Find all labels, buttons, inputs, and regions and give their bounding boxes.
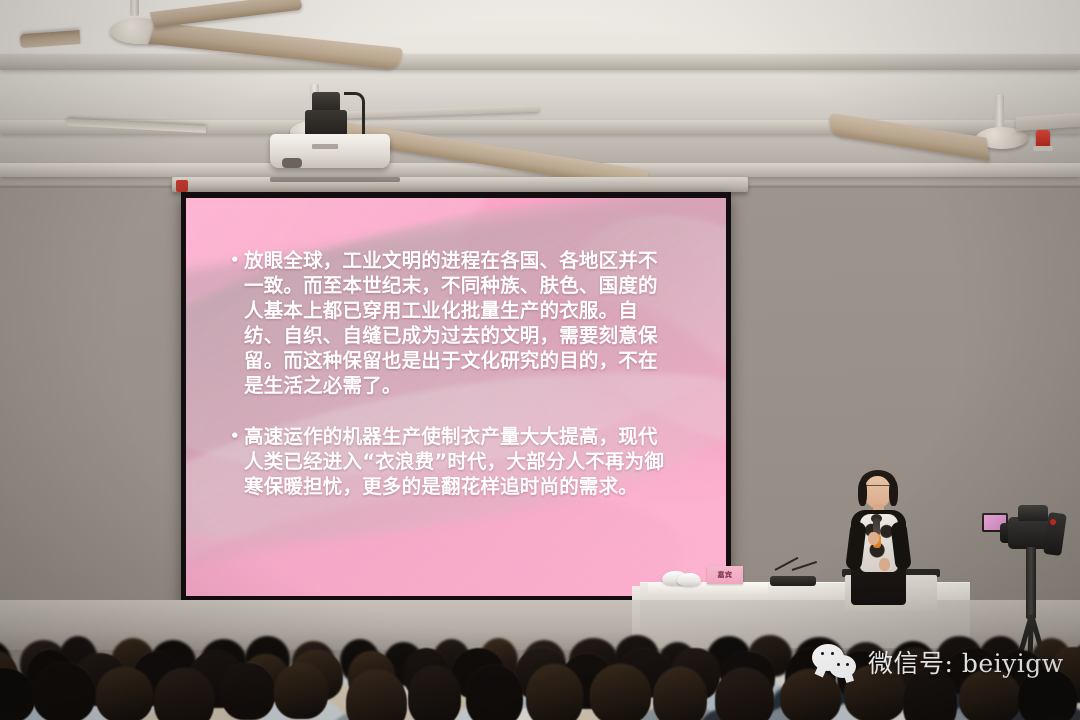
screen-roller-casing (172, 177, 748, 192)
fire-sprinkler-icon (1036, 130, 1050, 148)
speech-bubble-small (829, 655, 856, 678)
wechat-watermark: 微信号: beiyigw (812, 642, 1064, 682)
ceiling-projector (270, 134, 390, 168)
audience-head (715, 668, 774, 720)
audience-head (33, 663, 95, 720)
display-shoe (677, 573, 701, 586)
fan-rod (995, 95, 1004, 129)
slide-content: • 放眼全球，工业文明的进程在各国、各地区并不一致。而至本世纪末，不同种族、肤色… (186, 198, 726, 596)
speaker-glasses-icon (866, 485, 890, 491)
speaker-hair-side (858, 480, 867, 506)
camera-handle (1018, 505, 1048, 521)
fan-blade (150, 0, 304, 28)
audience-head (466, 665, 523, 720)
slide-bullet-paragraph: • 高速运作的机器生产使制衣产量大大提高，现代人类已经进入“衣浪费”时代，大部分… (230, 424, 672, 499)
speaker-person (838, 470, 918, 605)
slide-paragraph-text: 放眼全球，工业文明的进程在各国、各地区并不一致。而至本世纪末，不同种族、肤色、国… (244, 248, 672, 398)
wechat-logo-icon (812, 642, 860, 682)
projection-screen: • 放眼全球，工业文明的进程在各国、各地区并不一致。而至本世纪末，不同种族、肤色… (186, 198, 726, 596)
lecture-hall-photo: • 放眼全球，工业文明的进程在各国、各地区并不一致。而至本世纪末，不同种族、肤色… (0, 0, 1080, 720)
fan-rod (130, 0, 139, 16)
fan-blade (149, 22, 405, 70)
name-card-label: 嘉宾 (718, 570, 733, 580)
audience-head (221, 663, 274, 720)
projector-mount-upper (312, 92, 340, 112)
speaker-hand (868, 532, 879, 545)
bullet-point-icon: • (230, 424, 244, 449)
projection-screen-frame: • 放眼全球，工业文明的进程在各国、各地区并不一致。而至本世纪末，不同种族、肤色… (181, 192, 731, 602)
slide-bullet-paragraph: • 放眼全球，工业文明的进程在各国、各地区并不一致。而至本世纪末，不同种族、肤色… (230, 248, 672, 398)
projector-lens-icon (282, 158, 302, 168)
speaker-hand (879, 558, 890, 571)
fan-blade (1016, 111, 1080, 131)
bullet-point-icon: • (230, 248, 244, 273)
audience-head (96, 667, 154, 720)
camera-record-indicator (1050, 519, 1056, 525)
slide-paragraph-text: 高速运作的机器生产使制衣产量大大提高，现代人类已经进入“衣浪费”时代，大部分人不… (244, 424, 672, 499)
casing-shadow (270, 177, 400, 182)
audience-head (274, 664, 327, 719)
casing-end-cap (176, 180, 188, 192)
audience-head (408, 666, 462, 720)
fan-blade (828, 113, 990, 161)
fan-blade (20, 30, 81, 48)
desk-microphone-base (770, 576, 816, 586)
projector-brand-label (312, 144, 338, 149)
audience-head (590, 664, 650, 720)
wechat-id-text: 微信号: beiyigw (868, 644, 1064, 680)
audience-head (526, 664, 583, 720)
speaker-hair-side (889, 480, 898, 506)
name-card: 嘉宾 (707, 566, 743, 584)
